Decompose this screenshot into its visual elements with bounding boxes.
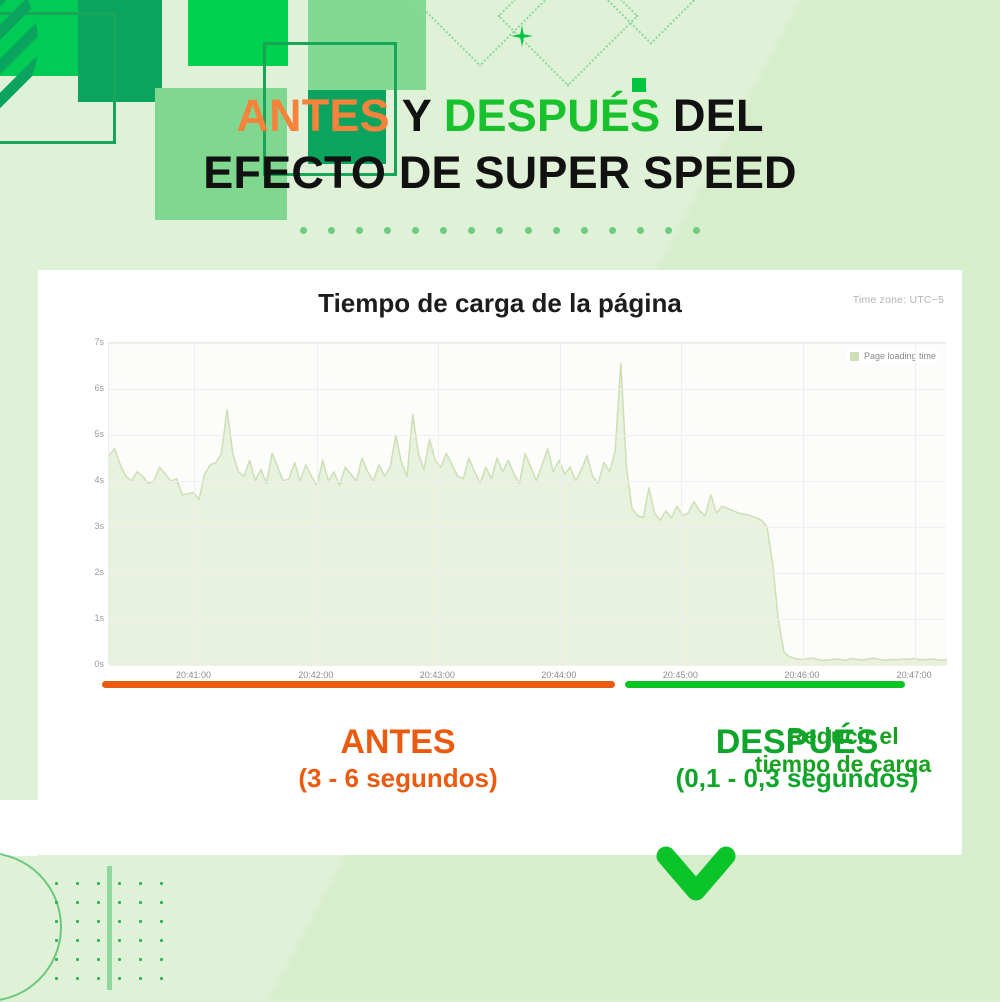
y-axis-tick: 6s bbox=[94, 383, 104, 393]
divider-dot bbox=[693, 227, 700, 234]
x-axis-tick: 20:42:00 bbox=[298, 670, 333, 680]
x-axis-tick: 20:44:00 bbox=[541, 670, 576, 680]
y-axis-tick: 4s bbox=[94, 475, 104, 485]
gridline-vertical bbox=[194, 343, 195, 664]
series-page-loading-time bbox=[109, 343, 947, 665]
divider-dot bbox=[553, 227, 560, 234]
diamond-outline-2 bbox=[497, 0, 638, 87]
dot-divider bbox=[300, 226, 700, 234]
gridline-horizontal bbox=[109, 665, 946, 666]
divider-dot bbox=[440, 227, 447, 234]
divider-dot bbox=[665, 227, 672, 234]
divider-dot bbox=[468, 227, 475, 234]
vertical-line bbox=[107, 866, 112, 990]
divider-dot bbox=[581, 227, 588, 234]
title-word-y: Y bbox=[390, 90, 444, 141]
gridline-horizontal bbox=[109, 619, 946, 620]
y-axis-tick: 0s bbox=[94, 659, 104, 669]
x-axis-tick: 20:47:00 bbox=[897, 670, 932, 680]
page-title-line-1: ANTES Y DESPUÉS DEL bbox=[0, 88, 1000, 145]
y-axis-tick: 2s bbox=[94, 567, 104, 577]
x-axis-tick: 20:43:00 bbox=[420, 670, 455, 680]
gridline-vertical bbox=[915, 343, 916, 664]
footer-before-title: ANTES bbox=[178, 722, 618, 762]
divider-dot bbox=[300, 227, 307, 234]
divider-dot bbox=[328, 227, 335, 234]
gridline-vertical bbox=[438, 343, 439, 664]
title-word-antes: ANTES bbox=[236, 90, 390, 141]
divider-dot bbox=[609, 227, 616, 234]
y-axis-tick: 1s bbox=[94, 613, 104, 623]
dot-grid bbox=[46, 874, 166, 986]
card-notch bbox=[0, 800, 38, 856]
title-word-del: DEL bbox=[660, 90, 763, 141]
chart-legend: Page loading time bbox=[846, 349, 940, 363]
title-word-despues: DESPUÉS bbox=[444, 90, 660, 141]
footer-after: DESPUÉS (0,1 - 0,3 segundos) bbox=[592, 722, 1000, 796]
chart-plot-area: Page loading time bbox=[108, 342, 946, 664]
divider-dot bbox=[356, 227, 363, 234]
gridline-horizontal bbox=[109, 435, 946, 436]
gridline-horizontal bbox=[109, 527, 946, 528]
divider-dot bbox=[384, 227, 391, 234]
chart-title: Tiempo de carga de la página bbox=[38, 288, 962, 319]
square-green-4 bbox=[308, 0, 426, 90]
legend-swatch-icon bbox=[850, 352, 859, 361]
divider-dot bbox=[637, 227, 644, 234]
page-title-line-2: EFECTO DE SUPER SPEED bbox=[0, 145, 1000, 202]
y-axis-tick: 5s bbox=[94, 429, 104, 439]
gridline-horizontal bbox=[109, 481, 946, 482]
gridline-horizontal bbox=[109, 343, 946, 344]
y-axis-tick: 7s bbox=[94, 337, 104, 347]
square-green-3 bbox=[188, 0, 288, 66]
legend-label: Page loading time bbox=[864, 351, 936, 361]
divider-dot bbox=[412, 227, 419, 234]
timezone-label: Time zone: UTC−5 bbox=[853, 294, 944, 306]
gridline-vertical bbox=[317, 343, 318, 664]
gridline-horizontal bbox=[109, 573, 946, 574]
x-axis-tick: 20:46:00 bbox=[784, 670, 819, 680]
phase-bar-after bbox=[625, 681, 905, 688]
divider-dot bbox=[496, 227, 503, 234]
square-green-2 bbox=[78, 0, 162, 102]
sparkle-icon bbox=[511, 25, 533, 47]
gridline-vertical bbox=[681, 343, 682, 664]
x-axis-tick: 20:41:00 bbox=[176, 670, 211, 680]
gridline-vertical bbox=[560, 343, 561, 664]
y-axis-tick: 3s bbox=[94, 521, 104, 531]
phase-bar-before bbox=[102, 681, 615, 688]
poster-canvas: ANTES Y DESPUÉS DEL EFECTO DE SUPER SPEE… bbox=[0, 0, 1000, 1000]
diamond-outline-3 bbox=[573, 0, 729, 45]
footer-before-range: (3 - 6 segundos) bbox=[178, 762, 618, 796]
gridline-vertical bbox=[803, 343, 804, 664]
square-green-1 bbox=[0, 0, 90, 76]
diamond-outline-1 bbox=[395, 0, 565, 67]
y-axis-labels: 0s1s2s3s4s5s6s7s bbox=[68, 336, 104, 670]
gridline-horizontal bbox=[109, 389, 946, 390]
divider-dot bbox=[525, 227, 532, 234]
footer-after-range: (0,1 - 0,3 segundos) bbox=[592, 762, 1000, 796]
footer-after-title: DESPUÉS bbox=[592, 722, 1000, 762]
footer-before: ANTES (3 - 6 segundos) bbox=[178, 722, 618, 796]
page-title: ANTES Y DESPUÉS DEL EFECTO DE SUPER SPEE… bbox=[0, 88, 1000, 201]
arc-outline bbox=[0, 852, 62, 1002]
